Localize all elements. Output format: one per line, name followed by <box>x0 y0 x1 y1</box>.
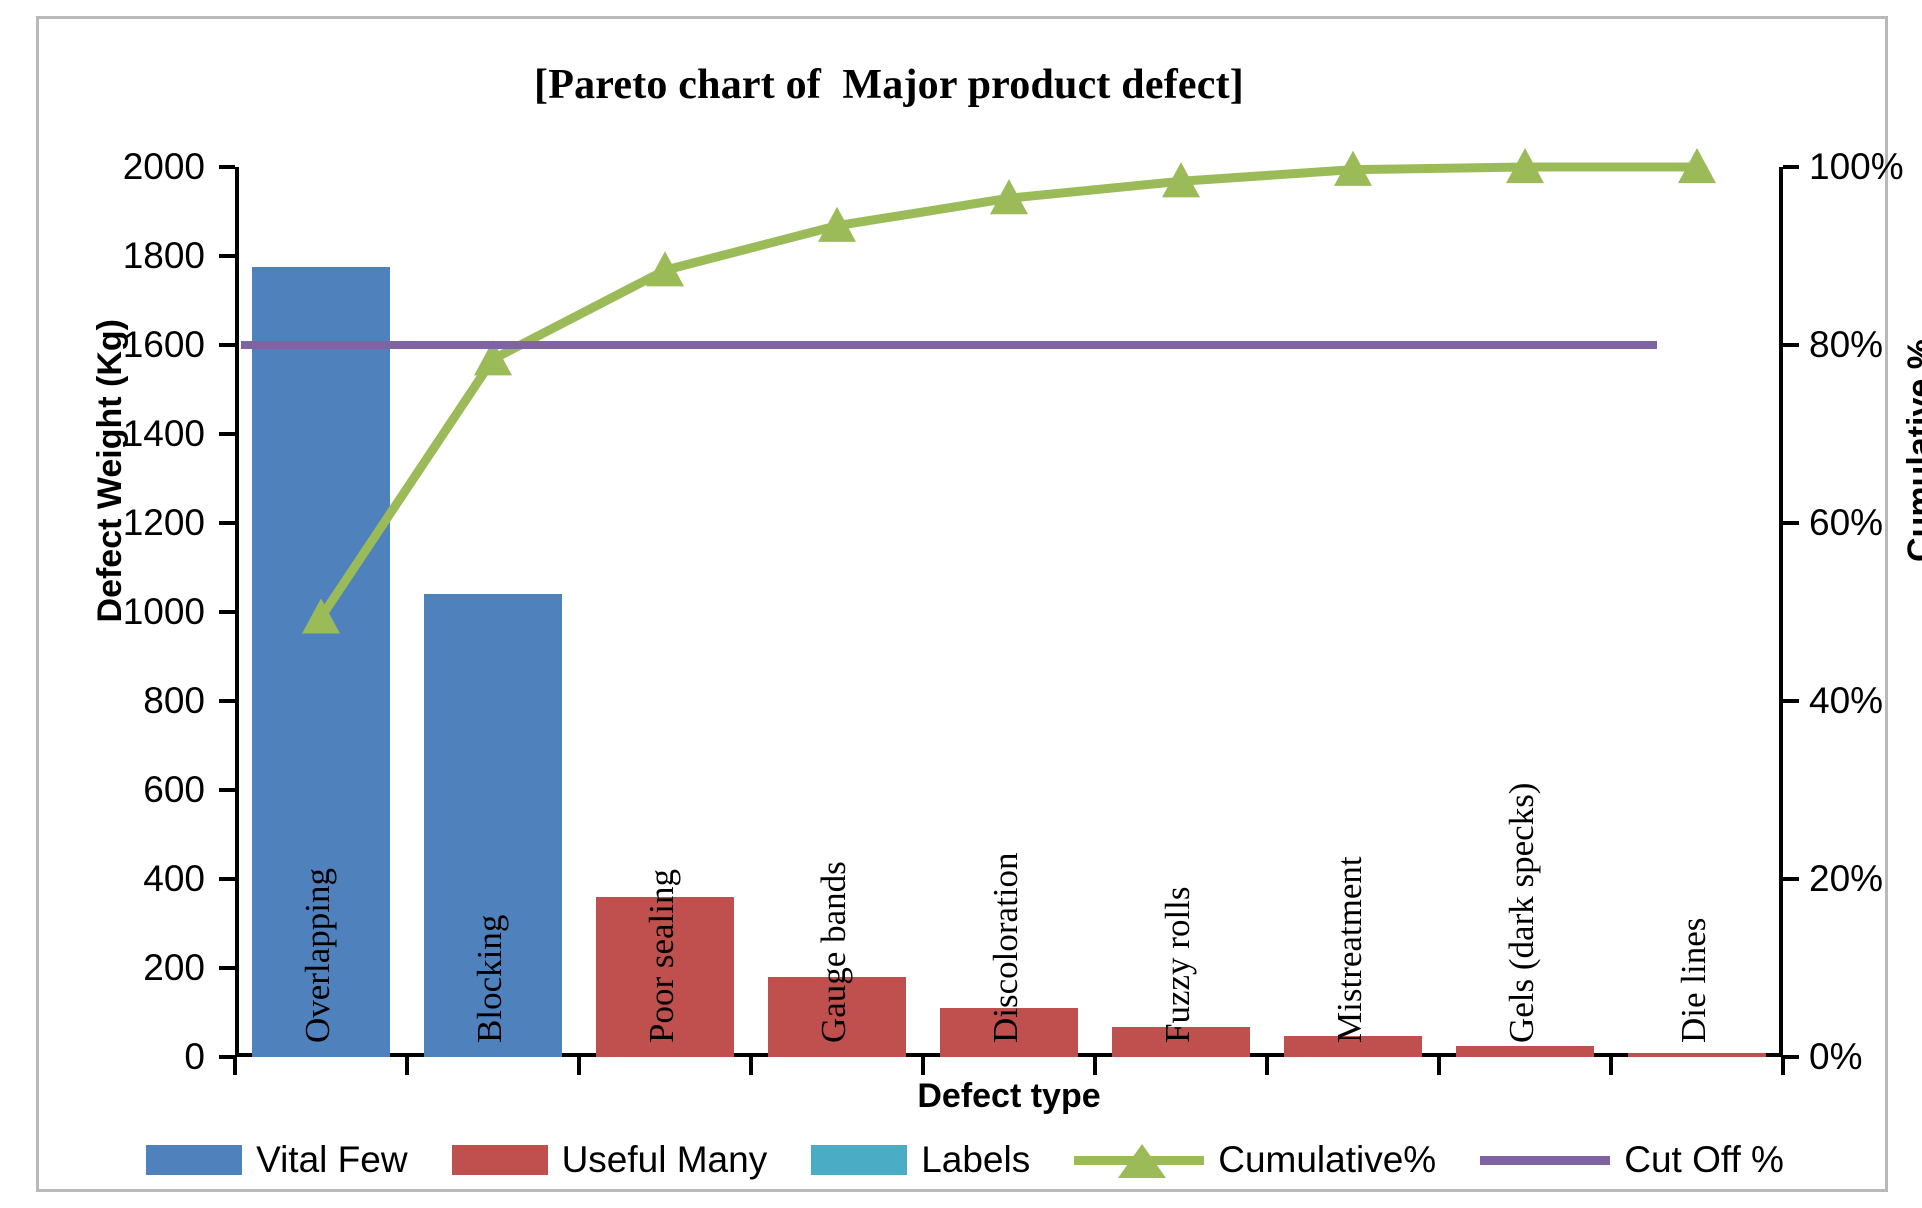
legend-item-labels[interactable]: Labels <box>811 1139 1030 1181</box>
plot-inner: OverlappingBlockingPoor sealingGauge ban… <box>235 167 1783 1057</box>
legend-label: Useful Many <box>562 1139 768 1181</box>
chart-legend: Vital FewUseful ManyLabelsCumulative%Cut… <box>39 1139 1891 1181</box>
y-axis-left-tick <box>219 788 235 792</box>
y-axis-left-tick <box>219 254 235 258</box>
y-axis-left-tick-label: 1400 <box>39 413 205 455</box>
y-axis-left-tick <box>219 877 235 881</box>
x-axis-tick <box>749 1057 753 1075</box>
legend-label: Vital Few <box>256 1139 408 1181</box>
y-axis-right-tick-label: 0% <box>1809 1036 1922 1078</box>
y-axis-left-tick-label: 400 <box>39 858 205 900</box>
y-axis-left-tick-label: 2000 <box>39 146 205 188</box>
cut-off-line <box>241 341 1657 349</box>
y-axis-right-tick <box>1783 699 1799 703</box>
x-axis-tick <box>921 1057 925 1075</box>
y-axis-right-tick <box>1783 521 1799 525</box>
legend-item-cumulative[interactable]: Cumulative% <box>1074 1139 1436 1181</box>
x-axis-tick <box>1093 1057 1097 1075</box>
legend-line-stroke <box>1480 1156 1610 1165</box>
legend-line-icon <box>1480 1142 1610 1178</box>
y-axis-left-tick-label: 200 <box>39 947 205 989</box>
y-axis-left-tick-label: 1200 <box>39 502 205 544</box>
chart-frame: [Pareto chart of Major product defect] D… <box>36 16 1888 1192</box>
legend-swatch-icon <box>811 1145 907 1175</box>
y-axis-left-tick <box>219 966 235 970</box>
y-axis-left-tick <box>219 521 235 525</box>
x-axis-title: Defect type <box>235 1077 1783 1116</box>
y-axis-left-tick-label: 0 <box>39 1036 205 1078</box>
legend-item-useful-many[interactable]: Useful Many <box>452 1139 768 1181</box>
y-axis-left-tick-label: 1800 <box>39 235 205 277</box>
x-axis-tick <box>405 1057 409 1075</box>
chart-title: [Pareto chart of Major product defect] <box>39 61 1739 109</box>
x-axis-tick <box>233 1057 237 1075</box>
y-axis-right-tick-label: 60% <box>1809 502 1922 544</box>
y-axis-left-tick-label: 600 <box>39 769 205 811</box>
x-axis-tick <box>1609 1057 1613 1075</box>
legend-swatch-icon <box>146 1145 242 1175</box>
y-axis-left-tick <box>219 610 235 614</box>
y-axis-right-tick <box>1783 343 1799 347</box>
legend-line-icon <box>1074 1142 1204 1178</box>
legend-swatch-icon <box>452 1145 548 1175</box>
legend-item-vital-few[interactable]: Vital Few <box>146 1139 408 1181</box>
x-axis-tick <box>1781 1057 1785 1075</box>
y-axis-left-tick <box>219 432 235 436</box>
x-axis-tick <box>577 1057 581 1075</box>
y-axis-right-tick-label: 100% <box>1809 146 1922 188</box>
cumulative-polyline <box>321 167 1697 617</box>
legend-triangle-marker-icon <box>1118 1144 1166 1178</box>
y-axis-right-tick <box>1783 165 1799 169</box>
plot-area: OverlappingBlockingPoor sealingGauge ban… <box>235 167 1783 1057</box>
legend-label: Cumulative% <box>1218 1139 1436 1181</box>
y-axis-right-tick <box>1783 877 1799 881</box>
cumulative-line-layer <box>235 167 1783 1057</box>
legend-item-cut-off[interactable]: Cut Off % <box>1480 1139 1784 1181</box>
y-axis-left-tick-label: 800 <box>39 680 205 722</box>
x-axis-tick <box>1265 1057 1269 1075</box>
y-axis-right-tick-label: 20% <box>1809 858 1922 900</box>
y-axis-right-tick-label: 40% <box>1809 680 1922 722</box>
x-axis-tick <box>1437 1057 1441 1075</box>
y-axis-left-tick-label: 1000 <box>39 591 205 633</box>
y-axis-left-tick <box>219 165 235 169</box>
y-axis-left-tick <box>219 699 235 703</box>
y-axis-left-tick-label: 1600 <box>39 324 205 366</box>
legend-label: Cut Off % <box>1624 1139 1784 1181</box>
y-axis-left-tick <box>219 343 235 347</box>
legend-label: Labels <box>921 1139 1030 1181</box>
y-axis-right-tick <box>1783 1055 1799 1059</box>
y-axis-right-tick-label: 80% <box>1809 324 1922 366</box>
